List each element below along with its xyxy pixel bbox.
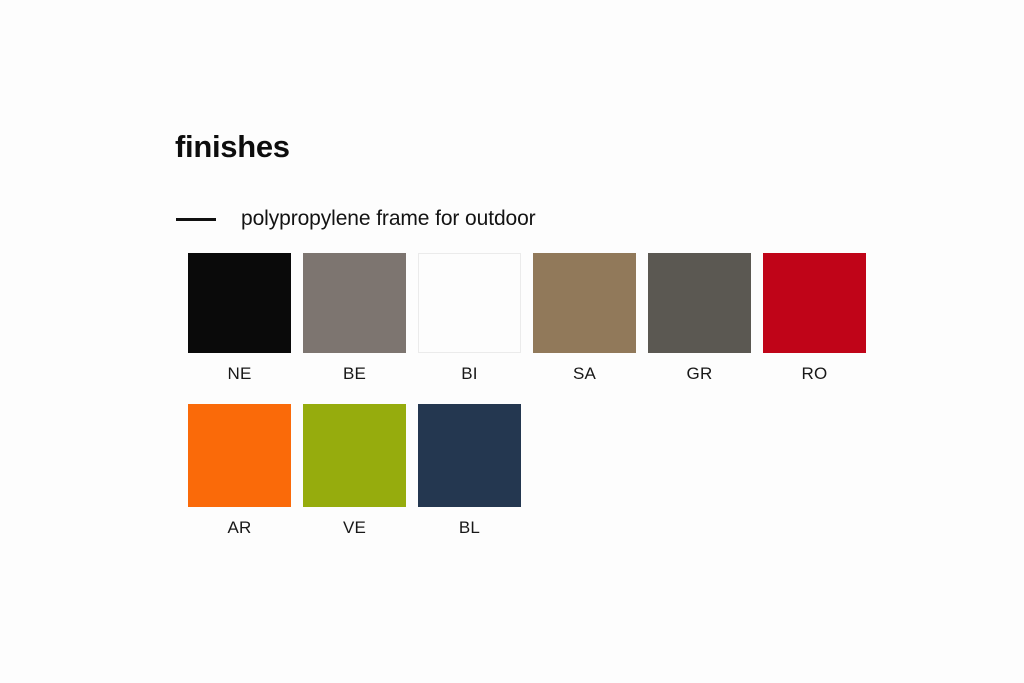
swatch-code: BI xyxy=(418,364,521,384)
swatch-item-ro[interactable]: RO xyxy=(763,253,866,384)
color-chip[interactable] xyxy=(418,253,521,353)
color-chip[interactable] xyxy=(763,253,866,353)
color-chip[interactable] xyxy=(303,404,406,507)
swatch-item-ar[interactable]: AR xyxy=(188,404,291,538)
swatch-code: AR xyxy=(188,518,291,538)
swatch-item-ve[interactable]: VE xyxy=(303,404,406,538)
swatch-code: RO xyxy=(763,364,866,384)
finishes-page: finishes polypropylene frame for outdoor… xyxy=(0,0,1024,683)
swatch-grid: NE BE BI SA GR RO xyxy=(188,253,928,545)
horizontal-rule-icon xyxy=(176,218,216,221)
swatch-item-sa[interactable]: SA xyxy=(533,253,636,384)
swatch-item-bl[interactable]: BL xyxy=(418,404,521,538)
swatch-row: AR VE BL xyxy=(188,404,928,538)
color-chip[interactable] xyxy=(188,404,291,507)
section-label: polypropylene frame for outdoor xyxy=(241,207,536,231)
section-header: polypropylene frame for outdoor xyxy=(176,205,536,233)
swatch-item-be[interactable]: BE xyxy=(303,253,406,384)
swatch-item-bi[interactable]: BI xyxy=(418,253,521,384)
swatch-row: NE BE BI SA GR RO xyxy=(188,253,928,384)
color-chip[interactable] xyxy=(418,404,521,507)
swatch-code: GR xyxy=(648,364,751,384)
swatch-code: BL xyxy=(418,518,521,538)
swatch-code: BE xyxy=(303,364,406,384)
swatch-item-ne[interactable]: NE xyxy=(188,253,291,384)
swatch-code: NE xyxy=(188,364,291,384)
color-chip[interactable] xyxy=(648,253,751,353)
color-chip[interactable] xyxy=(533,253,636,353)
swatch-code: SA xyxy=(533,364,636,384)
swatch-item-gr[interactable]: GR xyxy=(648,253,751,384)
color-chip[interactable] xyxy=(188,253,291,353)
swatch-code: VE xyxy=(303,518,406,538)
color-chip[interactable] xyxy=(303,253,406,353)
page-title: finishes xyxy=(175,127,290,167)
